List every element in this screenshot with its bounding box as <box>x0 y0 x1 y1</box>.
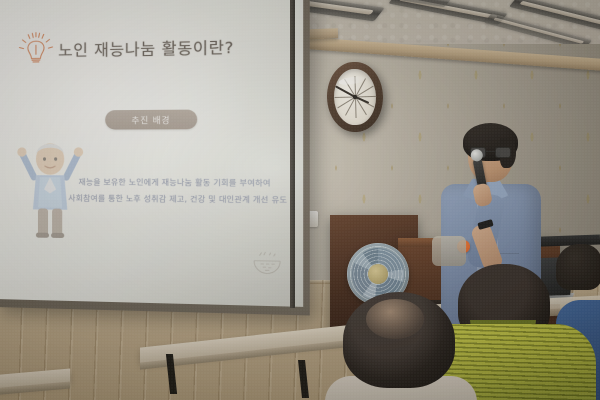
wall-clock <box>326 61 384 132</box>
clock-center-pin <box>353 95 357 99</box>
audience-bald-spot <box>366 299 424 339</box>
audience-member-background <box>432 236 466 266</box>
fan-hub <box>368 264 388 284</box>
shirt-pocket <box>497 232 519 254</box>
audience-member-front-left <box>333 292 465 400</box>
clock-face <box>333 68 376 125</box>
screen-right-edge <box>290 0 295 308</box>
screen-vignette <box>0 0 303 307</box>
projection-screen[interactable]: 노인 재능나눔 활동이란? 추진 배경 재능을 보유한 노인에게 재능나눔 활동… <box>0 0 310 316</box>
photo-scene: 노인 재능나눔 활동이란? 추진 배경 재능을 보유한 노인에게 재능나눔 활동… <box>0 0 600 400</box>
projected-slide-surface: 노인 재능나눔 활동이란? 추진 배경 재능을 보유한 노인에게 재능나눔 활동… <box>0 0 303 307</box>
